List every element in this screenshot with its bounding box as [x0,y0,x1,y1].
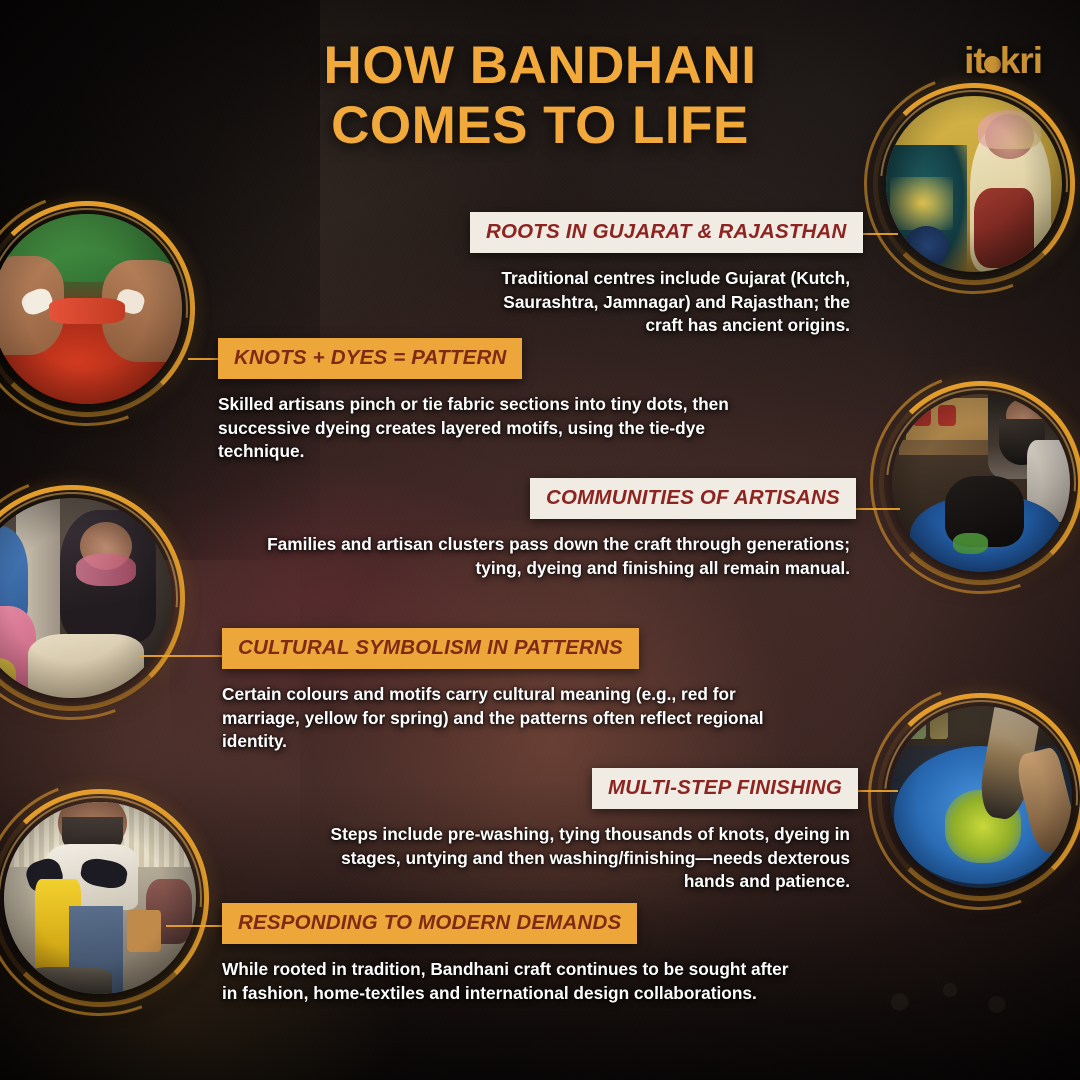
section-badge[interactable]: MULTI-STEP FINISHING [592,768,858,809]
section-body: Traditional centres include Gujarat (Kut… [470,267,850,338]
section-responding-to-modern-demands: RESPONDING TO MODERN DEMANDS While roote… [222,903,792,1005]
section-multi-step-finishing: MULTI-STEP FINISHING Steps include pre-w… [592,768,850,894]
section-badge[interactable]: CULTURAL SYMBOLISM IN PATTERNS [222,628,639,669]
section-body: Families and artisan clusters pass down … [230,533,850,580]
photo-artisan-lifting-yellow-cloth [4,802,196,994]
connector-line-6 [166,925,222,927]
section-badge[interactable]: COMMUNITIES OF ARTISANS [530,478,856,519]
photo-bundles-in-blue-dye [890,706,1072,888]
photo-hands-tying-red-fabric [0,214,182,404]
connector-line-2 [188,358,222,360]
brand-logo-itokri[interactable]: itkri [964,40,1042,82]
section-body: Steps include pre-washing, tying thousan… [310,823,850,894]
photo-woman-tying-cream-fabric [0,498,172,698]
connector-line-3 [140,655,222,657]
section-badge[interactable]: RESPONDING TO MODERN DEMANDS [222,903,637,944]
logo-dot-icon [984,56,1001,73]
photo-dyer-at-blue-vat [892,394,1070,572]
section-knots-dyes-pattern: KNOTS + DYES = PATTERN Skilled artisans … [218,338,758,464]
page-title: HOW BANDHANI COMES TO LIFE [0,36,1080,156]
section-body: Skilled artisans pinch or tie fabric sec… [218,393,758,464]
section-body: Certain colours and motifs carry cultura… [222,683,782,754]
title-line-2: COMES TO LIFE [0,96,1080,156]
logo-text-left: it [964,40,985,81]
connector-line-4 [850,508,900,510]
section-badge[interactable]: KNOTS + DYES = PATTERN [218,338,522,379]
logo-text-right: kri [1000,40,1042,81]
title-line-1: HOW BANDHANI [324,36,757,95]
section-communities-of-artisans: COMMUNITIES OF ARTISANS Families and art… [530,478,850,580]
section-roots-in-gujarat-rajasthan: ROOTS IN GUJARAT & RAJASTHAN Traditional… [470,212,850,338]
section-body: While rooted in tradition, Bandhani craf… [222,958,792,1005]
section-badge[interactable]: ROOTS IN GUJARAT & RAJASTHAN [470,212,863,253]
section-cultural-symbolism-in-patterns: CULTURAL SYMBOLISM IN PATTERNS Certain c… [222,628,782,754]
